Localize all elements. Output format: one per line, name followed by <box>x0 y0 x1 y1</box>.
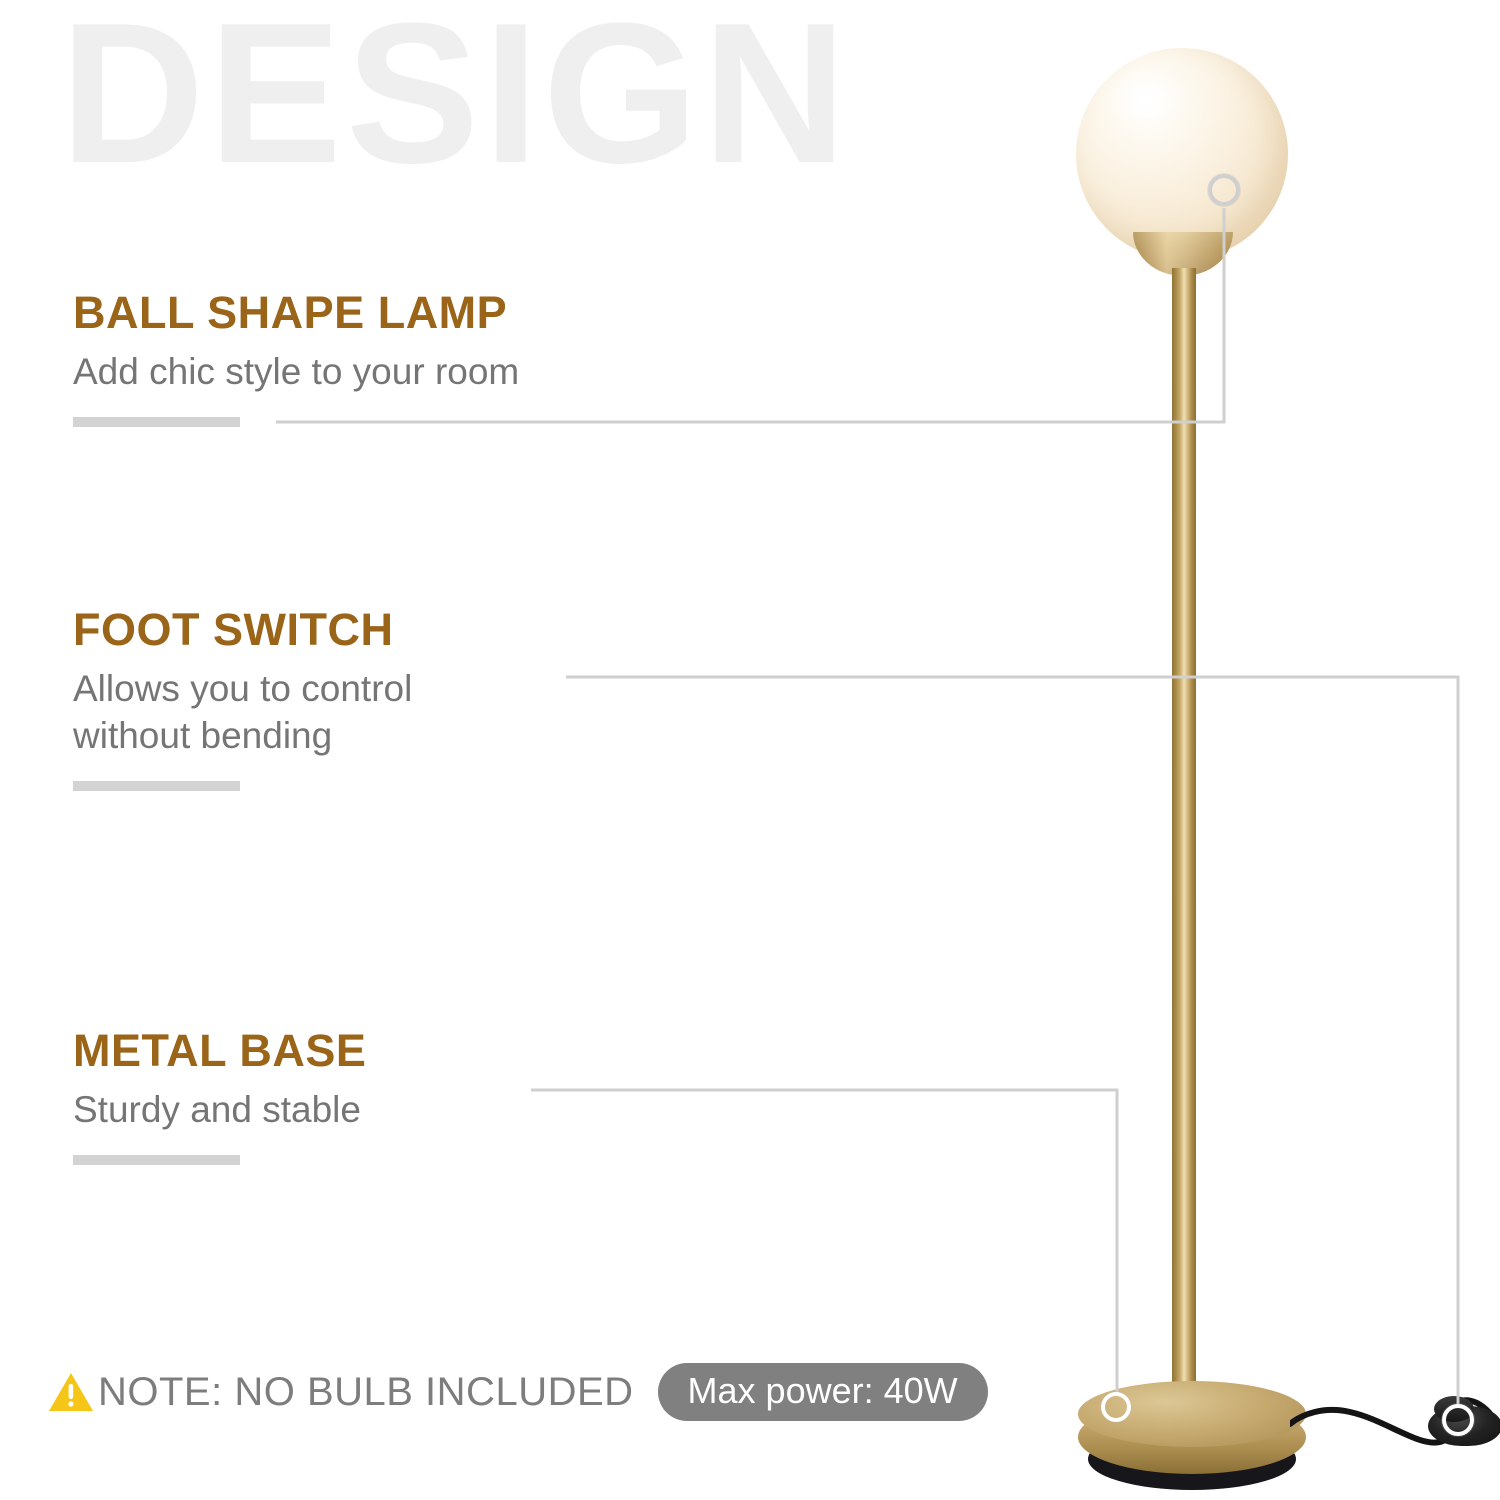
leader-line-metal-base <box>531 1090 1117 1392</box>
infographic-canvas: DESIGN BALL SHAPE LAMP Add c <box>0 0 1500 1500</box>
leader-line-foot-switch <box>566 677 1458 1404</box>
feature-title: METAL BASE <box>73 1027 366 1075</box>
switch-marker <box>1442 1404 1474 1436</box>
globe-marker <box>1208 174 1240 206</box>
note-text: NOTE: NO BULB INCLUDED <box>98 1370 634 1415</box>
feature-rule <box>73 781 240 791</box>
feature-title: BALL SHAPE LAMP <box>73 289 519 337</box>
note-bar: NOTE: NO BULB INCLUDED Max power: 40W <box>48 1361 988 1423</box>
base-marker <box>1101 1392 1131 1422</box>
feature-rule <box>73 417 240 427</box>
max-power-badge: Max power: 40W <box>658 1363 988 1422</box>
feature-title: FOOT SWITCH <box>73 606 412 654</box>
feature-subtitle: Add chic style to your room <box>73 348 519 395</box>
feature-block-metal-base: METAL BASE Sturdy and stable <box>73 1027 366 1165</box>
feature-subtitle: Allows you to control without bending <box>73 665 412 760</box>
feature-rule <box>73 1155 240 1165</box>
feature-subtitle: Sturdy and stable <box>73 1086 366 1133</box>
warning-triangle-icon <box>48 1371 94 1413</box>
feature-block-ball-shape-lamp: BALL SHAPE LAMP Add chic style to your r… <box>73 289 519 427</box>
feature-block-foot-switch: FOOT SWITCH Allows you to control withou… <box>73 606 412 791</box>
